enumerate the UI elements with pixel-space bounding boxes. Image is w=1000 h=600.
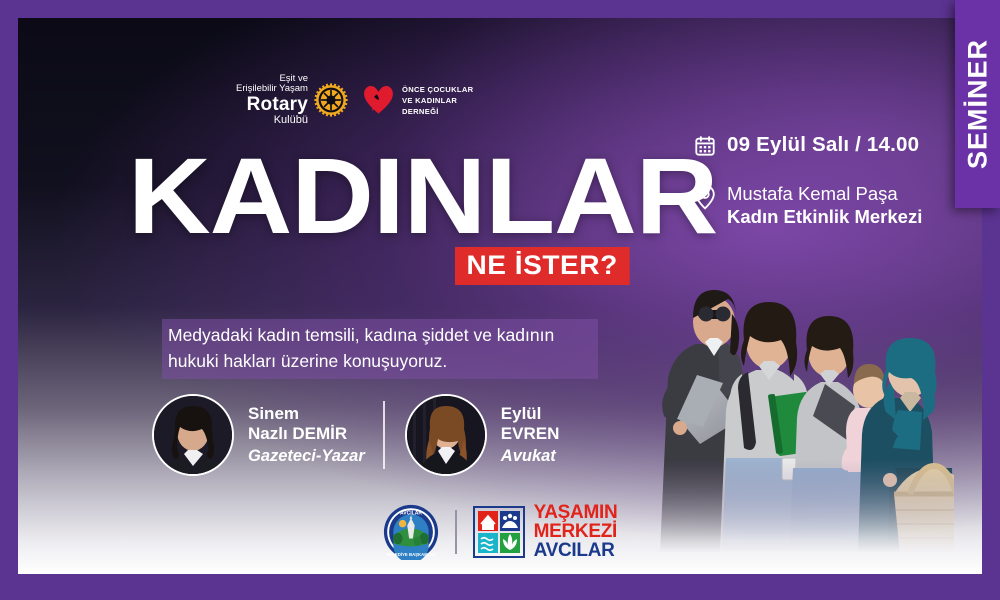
speaker-role: Gazeteci-Yazar (248, 446, 365, 466)
speaker-item: Eylül EVREN Avukat (405, 394, 560, 476)
rotary-line4: Kulübü (236, 115, 308, 127)
speaker-first-name: Eylül (501, 404, 560, 425)
speaker-info: Eylül EVREN Avukat (501, 404, 560, 467)
event-date: 09 Eylül Salı / 14.00 (727, 133, 919, 157)
dernek-logo: ÖNCE ÇOCUKLAR VE KADINLAR DERNEĞİ (362, 84, 473, 117)
headline-subtag-badge: NE İSTER? (455, 247, 629, 285)
rotary-line2: Erişilebilir Yaşam (236, 84, 308, 94)
speakers-divider (383, 401, 385, 469)
yasamin-merkezi-text: YAŞAMIN MERKEZİ AVCILAR (534, 503, 618, 560)
seal-bottom-text: BELEDİYE BAŞKANLIĞI (386, 551, 435, 556)
seal-top-text: AVCILAR (400, 510, 422, 516)
rotary-gear-icon (314, 83, 348, 117)
speakers-list: Sinem Nazlı DEMİR Gazeteci-Yazar (152, 394, 559, 476)
map-pin-icon (694, 184, 716, 210)
poster-canvas: Eşit ve Erişilebilir Yaşam Rotary Kulübü (18, 18, 982, 574)
location-line2: Kadın Etkinlik Merkezi (727, 205, 922, 228)
poster-root: Eşit ve Erişilebilir Yaşam Rotary Kulübü (0, 0, 1000, 600)
yasamin-merkezi-logo: YAŞAMIN MERKEZİ AVCILAR (473, 503, 618, 560)
description-text: Medyadaki kadın temsili, kadına şiddet v… (162, 319, 598, 379)
brand-line3: AVCILAR (534, 541, 618, 560)
dernek-line3: DERNEĞİ (402, 106, 473, 117)
brand-line2: MERKEZİ (534, 522, 618, 541)
four-quadrant-icon (473, 506, 525, 558)
avatar (405, 394, 487, 476)
event-date-row: 09 Eylül Salı / 14.00 (694, 133, 922, 157)
calendar-icon (694, 135, 716, 157)
seminer-badge-label: SEMİNER (962, 39, 993, 169)
page-title: KADINLAR (128, 146, 717, 245)
location-line1: Mustafa Kemal Paşa (727, 182, 922, 205)
speaker-last-name: EVREN (501, 424, 560, 445)
event-location-row: Mustafa Kemal Paşa Kadın Etkinlik Merkez… (694, 182, 922, 228)
avcilar-municipality-seal: AVCILAR BELEDİYE BAŞKANLIĞI (383, 504, 439, 560)
event-details: 09 Eylül Salı / 14.00 Mustafa Kemal Paşa… (694, 133, 922, 228)
dernek-line2: VE KADINLAR (402, 95, 473, 106)
seminer-badge: SEMİNER (955, 0, 1000, 208)
event-location: Mustafa Kemal Paşa Kadın Etkinlik Merkez… (727, 182, 922, 228)
partner-logos: Eşit ve Erişilebilir Yaşam Rotary Kulübü (236, 74, 473, 127)
footer-divider (455, 510, 457, 554)
speaker-first-name: Sinem (248, 404, 365, 425)
speaker-last-name: Nazlı DEMİR (248, 424, 365, 445)
brand-line1: YAŞAMIN (534, 503, 618, 522)
rotary-logo-text: Eşit ve Erişilebilir Yaşam Rotary Kulübü (236, 74, 308, 127)
rotary-line3: Rotary (236, 95, 308, 116)
footer-logos: AVCILAR BELEDİYE BAŞKANLIĞI (18, 503, 982, 560)
heart-icon (362, 84, 395, 116)
speaker-info: Sinem Nazlı DEMİR Gazeteci-Yazar (248, 404, 365, 467)
speaker-role: Avukat (501, 446, 560, 466)
dernek-line1: ÖNCE ÇOCUKLAR (402, 84, 473, 95)
avatar (152, 394, 234, 476)
speaker-item: Sinem Nazlı DEMİR Gazeteci-Yazar (152, 394, 365, 476)
rotary-club-logo: Eşit ve Erişilebilir Yaşam Rotary Kulübü (236, 74, 348, 127)
dernek-logo-text: ÖNCE ÇOCUKLAR VE KADINLAR DERNEĞİ (402, 84, 473, 117)
